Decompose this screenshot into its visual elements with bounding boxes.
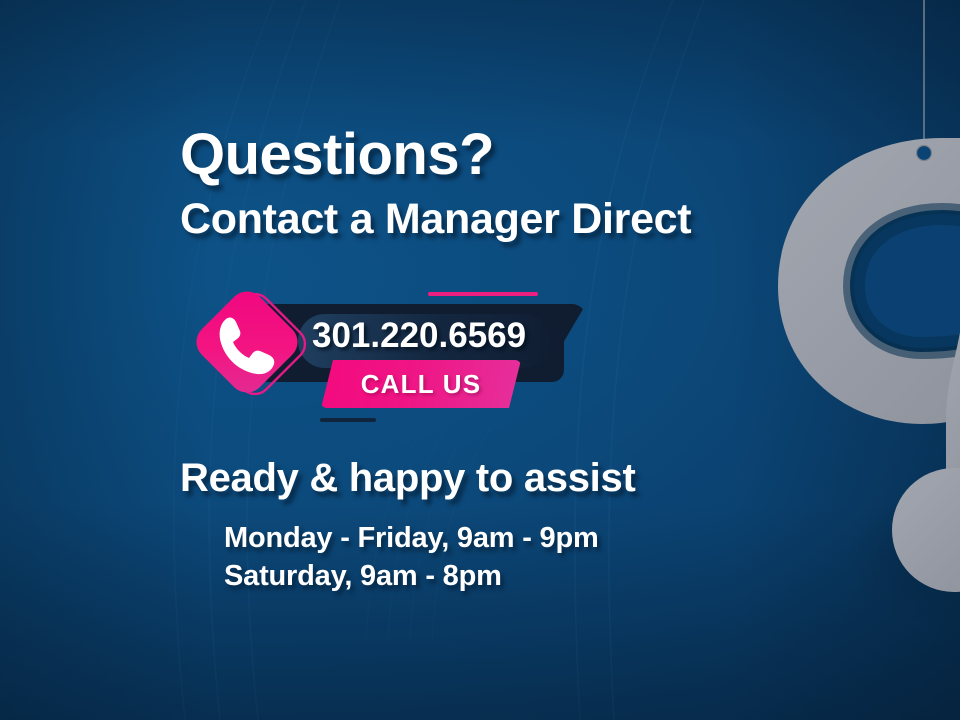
- page-subtitle: Contact a Manager Direct: [180, 198, 800, 241]
- headline-block: Questions? Contact a Manager Direct: [180, 126, 800, 241]
- diamond-fill: [189, 284, 305, 400]
- hours-block: Monday - Friday, 9am - 9pm Saturday, 9am…: [224, 519, 824, 596]
- call-us-button[interactable]: CALL US: [321, 360, 521, 408]
- hours-line-saturday: Saturday, 9am - 8pm: [224, 557, 824, 595]
- page-title: Questions?: [180, 126, 800, 184]
- assist-text: Ready & happy to assist: [180, 456, 635, 501]
- hours-line-weekday: Monday - Friday, 9am - 9pm: [224, 519, 824, 557]
- promo-banner: Questions? Contact a Manager Direct 301.…: [0, 0, 960, 720]
- phone-handset-icon: [186, 280, 316, 410]
- accent-line-bottom: [320, 418, 376, 422]
- phone-number-text[interactable]: 301.220.6569: [312, 316, 526, 356]
- question-mark-dot: [892, 468, 960, 592]
- phone-icon-badge[interactable]: [186, 280, 316, 410]
- phone-callout: 301.220.6569 CALL US: [186, 276, 606, 436]
- accent-line-top: [428, 292, 538, 296]
- hanging-hole: [917, 146, 932, 161]
- call-us-button-label: CALL US: [361, 369, 482, 400]
